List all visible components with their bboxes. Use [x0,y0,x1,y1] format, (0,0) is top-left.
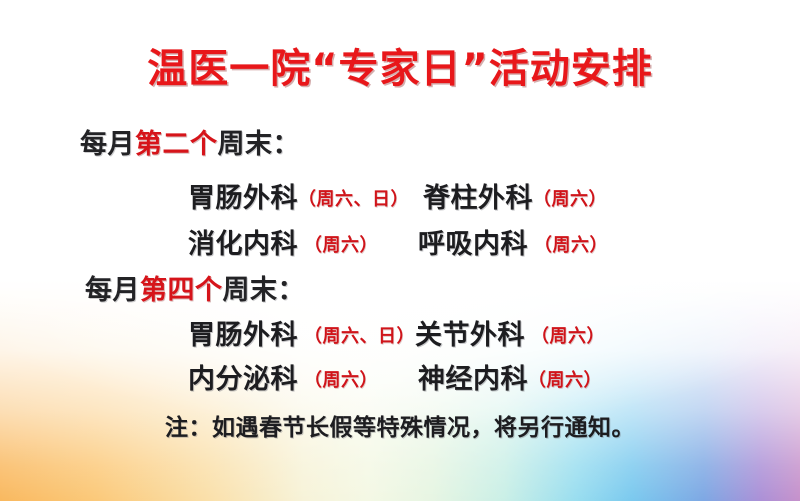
group-label-suffix: 周末： [218,129,301,160]
department-name: 关节外科 [415,320,525,351]
department-days: （周六、日） [304,326,415,347]
footer-note: 注：如遇春节长假等特殊情况，将另行通知。 [0,408,800,442]
group-label-prefix: 每月 [85,275,140,306]
department-days: （周六） [531,326,605,347]
department-name: 呼吸内科 [418,229,528,260]
department-name: 脊柱外科 [423,183,533,214]
schedule-row: 胃肠外科（周六、日）关节外科（周六） [188,313,605,352]
department-days: （周六） [528,370,602,391]
department-name: 胃肠外科 [188,183,298,214]
department-name: 消化内科 [188,229,298,260]
group-label-highlight: 第四个 [140,275,223,306]
poster-canvas: 温医一院“专家日”活动安排 每月第二个周末： 胃肠外科（周六、日）脊柱外科（周六… [0,0,800,501]
department-name: 胃肠外科 [188,320,298,351]
page-title: 温医一院“专家日”活动安排 [0,36,800,94]
department-days: （周六） [533,189,607,210]
department-days: （周六） [534,235,608,256]
department-name: 内分泌科 [188,364,298,395]
schedule-row: 消化内科（周六）呼吸内科（周六） [188,222,608,261]
group-label-prefix: 每月 [80,129,135,160]
group-label-second-weekend: 每月第二个周末： [80,122,300,161]
schedule-row: 内分泌科（周六）神经内科（周六） [188,357,602,396]
department-days: （周六） [304,235,378,256]
schedule-row: 胃肠外科（周六、日）脊柱外科（周六） [188,176,607,215]
group-label-fourth-weekend: 每月第四个周末： [85,268,305,307]
department-days: （周六） [304,370,378,391]
department-name: 神经内科 [418,364,528,395]
group-label-highlight: 第二个 [135,129,218,160]
group-label-suffix: 周末： [223,275,306,306]
department-days: （周六、日） [298,189,409,210]
poster-content: 温医一院“专家日”活动安排 每月第二个周末： 胃肠外科（周六、日）脊柱外科（周六… [0,0,800,501]
